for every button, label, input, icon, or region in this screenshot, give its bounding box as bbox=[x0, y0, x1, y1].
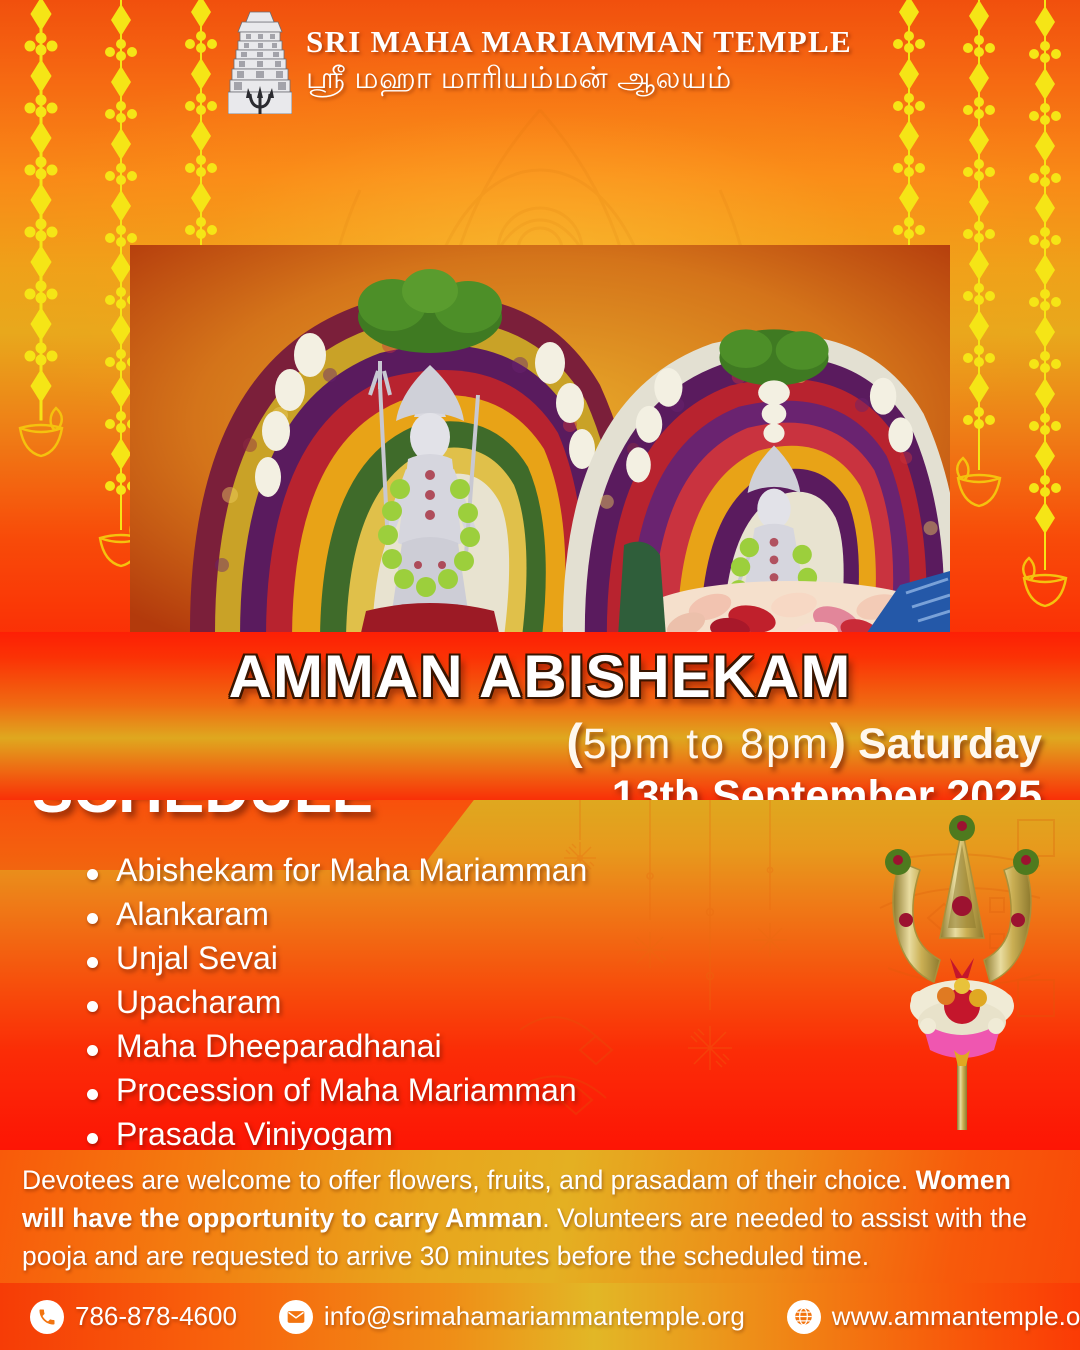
notice-part-1: Devotees are welcome to offer flowers, f… bbox=[22, 1165, 916, 1195]
list-item: Alankaram bbox=[78, 896, 587, 933]
notice-bar: Devotees are welcome to offer flowers, f… bbox=[0, 1150, 1080, 1283]
schedule-list: Abishekam for Maha Mariamman Alankaram U… bbox=[78, 852, 587, 1150]
website-url: www.ammantemple.org bbox=[832, 1301, 1080, 1332]
temple-name-block: SRI MAHA MARIAMMAN TEMPLE ஸ்ரீ மஹா மாரிய… bbox=[306, 24, 852, 100]
globe-icon bbox=[787, 1300, 821, 1334]
contact-website[interactable]: www.ammantemple.org bbox=[787, 1300, 1080, 1334]
envelope-icon bbox=[279, 1300, 313, 1334]
email-address: info@srimahamariammantemple.org bbox=[324, 1301, 745, 1332]
header-logo: SRI MAHA MARIAMMAN TEMPLE ஸ்ரீ மஹா மாரிய… bbox=[0, 6, 1080, 118]
gopuram-trident-icon bbox=[228, 10, 292, 114]
temple-event-poster: SRI MAHA MARIAMMAN TEMPLE ஸ்ரீ மஹா மாரிய… bbox=[0, 0, 1080, 1350]
time-open-paren: ( bbox=[566, 715, 582, 769]
list-item: Abishekam for Maha Mariamman bbox=[78, 852, 587, 889]
temple-name-english: SRI MAHA MARIAMMAN TEMPLE bbox=[306, 24, 852, 60]
event-weekday: Saturday bbox=[858, 720, 1042, 768]
phone-icon bbox=[30, 1300, 64, 1334]
list-item: Maha Dheeparadhanai bbox=[78, 1028, 587, 1065]
temple-name-tamil: ஸ்ரீ மஹா மாரியம்மன் ஆலயம் bbox=[306, 62, 852, 100]
diya-lamp-icon bbox=[1023, 558, 1066, 606]
list-item: Prasada Viniyogam bbox=[78, 1116, 587, 1150]
phone-number: 786-878-4600 bbox=[75, 1301, 237, 1332]
schedule-heading: SCHEDULE bbox=[32, 800, 373, 827]
notice-text: Devotees are welcome to offer flowers, f… bbox=[22, 1162, 1052, 1276]
list-item: Procession of Maha Mariamman bbox=[78, 1072, 587, 1109]
diya-lamp-icon bbox=[957, 458, 1000, 506]
diya-lamp-icon bbox=[20, 408, 62, 456]
event-time-range: 5pm to 8pm bbox=[583, 720, 830, 768]
trishul-icon bbox=[862, 810, 1062, 1130]
list-item: Upacharam bbox=[78, 984, 587, 1021]
contact-email[interactable]: info@srimahamariammantemple.org bbox=[279, 1300, 745, 1334]
deity-photo bbox=[130, 245, 950, 637]
schedule-section: SCHEDULE Abishekam for Maha Mariamman Al… bbox=[0, 800, 1080, 1150]
contact-bar: 786-878-4600 info@srimahamariammantemple… bbox=[0, 1283, 1080, 1350]
event-title: AMMAN ABISHEKAM bbox=[0, 642, 1080, 711]
event-time-line: (5pm to 8pm) Saturday bbox=[566, 714, 1042, 770]
contact-phone[interactable]: 786-878-4600 bbox=[30, 1300, 237, 1334]
time-close-paren: ) bbox=[830, 715, 846, 769]
list-item: Unjal Sevai bbox=[78, 940, 587, 977]
